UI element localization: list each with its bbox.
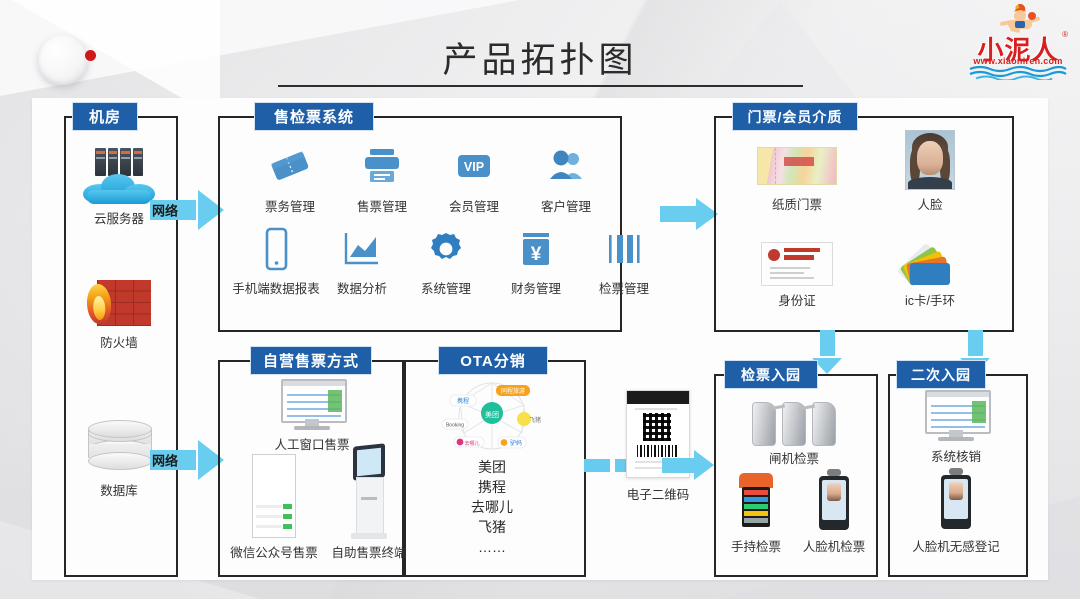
item-label: 系统核销 <box>888 446 1024 465</box>
item-check-management: 检票管理 <box>578 220 670 297</box>
wechat-phone-icon <box>252 454 296 538</box>
svg-text:¥: ¥ <box>531 244 542 265</box>
item-label: 数据库 <box>64 480 174 499</box>
item-label: 检票管理 <box>578 278 670 297</box>
ic-card-icon <box>900 241 960 287</box>
svg-text:Booking: Booking <box>446 423 464 429</box>
item-face-check: 人脸机检票 <box>794 466 874 555</box>
ota-partner-list: 美团 携程 去哪儿 飞猪 …… <box>418 458 566 557</box>
item-mobile-report: 手机端数据报表 <box>224 220 328 297</box>
group-badge-server-room: 机房 <box>72 102 138 131</box>
item-label: 闸机检票 <box>722 448 866 467</box>
item-label: 手持检票 <box>718 536 794 555</box>
item-system-verify: 系统核销 <box>888 386 1024 465</box>
item-label: 数据分析 <box>320 278 404 297</box>
item-ic-card: ic卡/手环 <box>870 238 990 309</box>
group-badge-entry-check: 检票入园 <box>724 360 818 389</box>
svg-text:飞猪: 飞猪 <box>529 416 541 424</box>
arrow-to-ticket-media <box>660 198 718 230</box>
barcode-icon <box>604 229 644 269</box>
item-label: 系统管理 <box>400 278 492 297</box>
diagram-canvas: 机房 云服务器 防火墙 <box>32 98 1048 580</box>
item-system-management: 系统管理 <box>400 220 492 297</box>
item-member-management: VIP 会员管理 <box>422 136 526 215</box>
paper-ticket-icon <box>757 147 837 185</box>
item-label: 纸质门票 <box>732 194 862 213</box>
group-badge-ota: OTA分销 <box>438 346 548 375</box>
id-card-icon <box>761 242 833 286</box>
logo-registered-mark: ® <box>1062 30 1068 39</box>
item-label: 人脸机无感登记 <box>888 536 1024 555</box>
item-data-analysis: 数据分析 <box>320 220 404 297</box>
item-face-registration: 人脸机无感登记 <box>888 464 1024 555</box>
group-badge-reentry: 二次入园 <box>896 360 986 389</box>
desktop-monitor-icon <box>925 390 987 442</box>
face-terminal-icon <box>939 468 973 532</box>
item-ticket-management: 票务管理 <box>238 136 342 215</box>
handheld-pos-icon <box>739 473 773 533</box>
item-label: 电子二维码 <box>600 484 716 503</box>
wave-icon <box>968 64 1068 80</box>
ticket-icon <box>267 146 313 186</box>
ota-network-icon: 美团 携程 同程旅游 Booking 飞猪 去哪儿 驴妈 <box>438 377 546 455</box>
item-wechat-sales: 微信公众号售票 <box>222 450 326 561</box>
item-label: 人脸 <box>870 194 990 213</box>
item-label: 身份证 <box>732 290 862 309</box>
printer-icon <box>361 146 403 186</box>
item-label: 自助售票终端 <box>320 542 418 561</box>
item-label: ic卡/手环 <box>870 290 990 309</box>
item-label: 会员管理 <box>422 196 526 215</box>
ota-partner: 美团 <box>418 458 566 478</box>
svg-text:同程旅游: 同程旅游 <box>501 387 525 395</box>
svg-text:VIP: VIP <box>464 160 484 174</box>
item-label: 防火墙 <box>64 332 174 351</box>
turnstile-icon <box>752 392 836 446</box>
group-badge-self-sales: 自营售票方式 <box>250 346 372 375</box>
finance-yen-icon: ¥ <box>517 229 555 269</box>
item-label: 手机端数据报表 <box>224 278 328 297</box>
brand-logo: 小泥人 ® www.xiaoniren.com <box>962 4 1074 80</box>
item-turnstile: 闸机检票 <box>722 390 866 467</box>
group-badge-ticketing-system: 售检票系统 <box>254 102 374 131</box>
arrow-qr-to-entry <box>662 450 714 480</box>
ota-partner: 携程 <box>418 478 566 498</box>
vip-icon: VIP <box>453 148 495 184</box>
gear-icon <box>426 229 466 269</box>
item-label: 客户管理 <box>514 196 618 215</box>
arrow-network-bottom: 网络 <box>150 440 224 480</box>
item-label: 人脸机检票 <box>794 536 874 555</box>
item-label: 财务管理 <box>490 278 582 297</box>
svg-text:去哪儿: 去哪儿 <box>464 440 479 447</box>
chart-icon <box>340 229 384 269</box>
svg-text:驴妈: 驴妈 <box>510 439 522 447</box>
title-underline <box>278 85 803 87</box>
database-icon <box>88 420 150 476</box>
users-icon <box>544 147 588 185</box>
item-label: 微信公众号售票 <box>222 542 326 561</box>
page-title: 产品拓扑图 <box>0 32 1080 83</box>
item-qr-code: 电子二维码 <box>600 384 716 503</box>
cloud-server-icon <box>81 148 157 206</box>
arrow-label: 网络 <box>152 201 178 220</box>
arrow-network-top: 网络 <box>150 190 224 230</box>
mobile-icon <box>261 226 291 272</box>
face-terminal-icon <box>817 469 851 533</box>
group-badge-ticket-media: 门票/会员介质 <box>732 102 858 131</box>
item-counter-sales: 人工窗口售票 <box>254 376 370 453</box>
arrow-label: 网络 <box>152 451 178 470</box>
item-label: 票务管理 <box>238 196 342 215</box>
item-paper-ticket: 纸质门票 <box>732 138 862 213</box>
svg-text:美团: 美团 <box>485 410 499 419</box>
ota-partner: …… <box>418 538 566 558</box>
face-photo-icon <box>905 130 955 190</box>
firewall-icon <box>87 280 151 328</box>
ota-partner: 去哪儿 <box>418 498 566 518</box>
svg-text:携程: 携程 <box>457 397 469 405</box>
self-kiosk-icon <box>349 445 389 541</box>
ota-partner: 飞猪 <box>418 518 566 538</box>
item-firewall: 防火墙 <box>64 276 174 351</box>
desktop-monitor-icon <box>281 379 343 431</box>
item-label: 售票管理 <box>330 196 434 215</box>
item-ota-network: 美团 携程 同程旅游 Booking 飞猪 去哪儿 驴妈 <box>418 374 566 557</box>
item-customer-management: 客户管理 <box>514 136 618 215</box>
item-face: 人脸 <box>870 126 990 213</box>
item-self-kiosk: 自助售票终端 <box>320 444 418 561</box>
item-finance-management: ¥ 财务管理 <box>490 220 582 297</box>
item-sales-management: 售票管理 <box>330 136 434 215</box>
item-id-card: 身份证 <box>732 238 862 309</box>
slide-root: 产品拓扑图 小泥人 ® www.xiaoniren.com 机房 <box>0 0 1080 599</box>
item-handheld-check: 手持检票 <box>718 470 794 555</box>
